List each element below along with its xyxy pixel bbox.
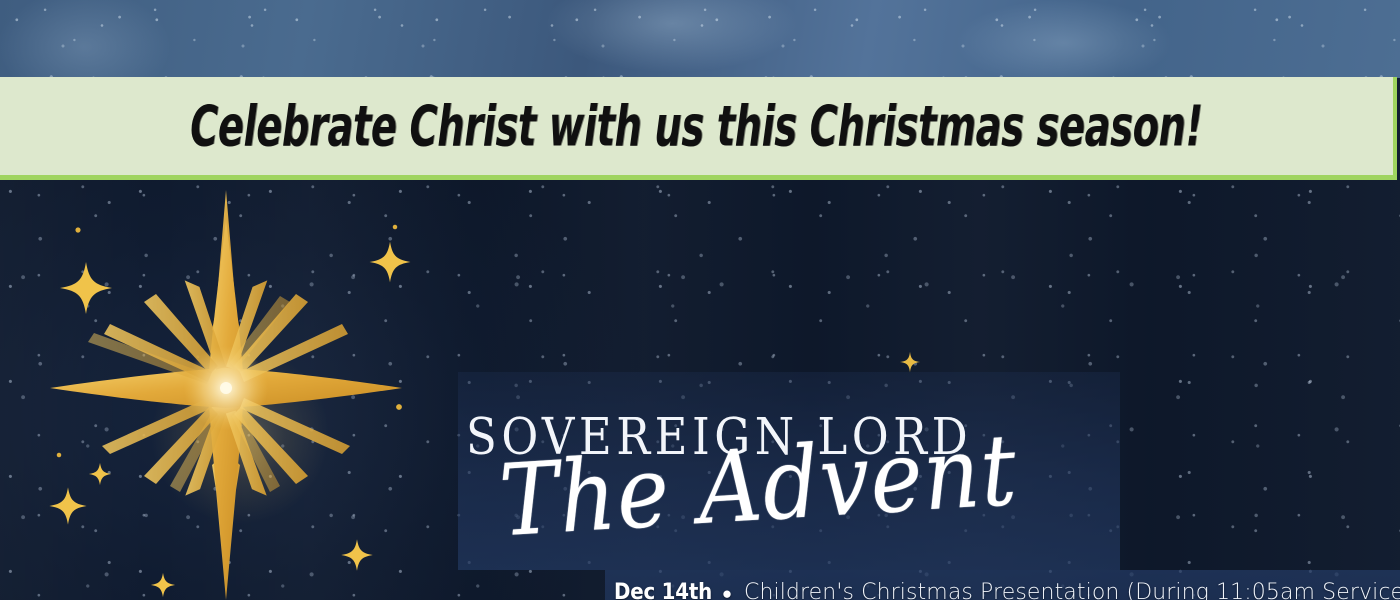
star-glow (150, 345, 330, 525)
sparkle-star-icon (150, 572, 176, 598)
sparkle-dot-icon (52, 448, 66, 462)
sparkle-star-icon (368, 240, 412, 284)
sparkle-star-icon (340, 538, 374, 572)
night-sky-scene: SOVEREIGN LORD The Advent Dec 14th ● Chi… (0, 180, 1400, 600)
sparkle-dot-icon (70, 222, 86, 238)
banner-stage: Celebrate Christ with us this Christmas … (0, 0, 1400, 600)
event-date: Dec 14th (614, 580, 710, 600)
sparkle-star-icon (88, 462, 112, 486)
sparkle-star-icon (898, 350, 922, 374)
star-icon (40, 190, 420, 600)
event-description: Children's Christmas Presentation (Durin… (744, 580, 1400, 600)
announcement-banner-text: Celebrate Christ with us this Christmas … (190, 93, 1202, 159)
bethlehem-star-graphic (40, 190, 420, 600)
announcement-banner: Celebrate Christ with us this Christmas … (0, 77, 1397, 180)
events-list: Dec 14th ● Children's Christmas Presenta… (614, 570, 1400, 600)
top-sky-band (0, 0, 1400, 78)
sparkle-dot-icon (390, 398, 408, 416)
sparkle-star-icon (58, 260, 114, 316)
list-item: Dec 14th ● Children's Christmas Presenta… (614, 580, 1400, 600)
bullet-icon: ● (710, 585, 744, 600)
sparkle-star-icon (48, 486, 88, 526)
sparkle-dot-icon (388, 220, 402, 234)
